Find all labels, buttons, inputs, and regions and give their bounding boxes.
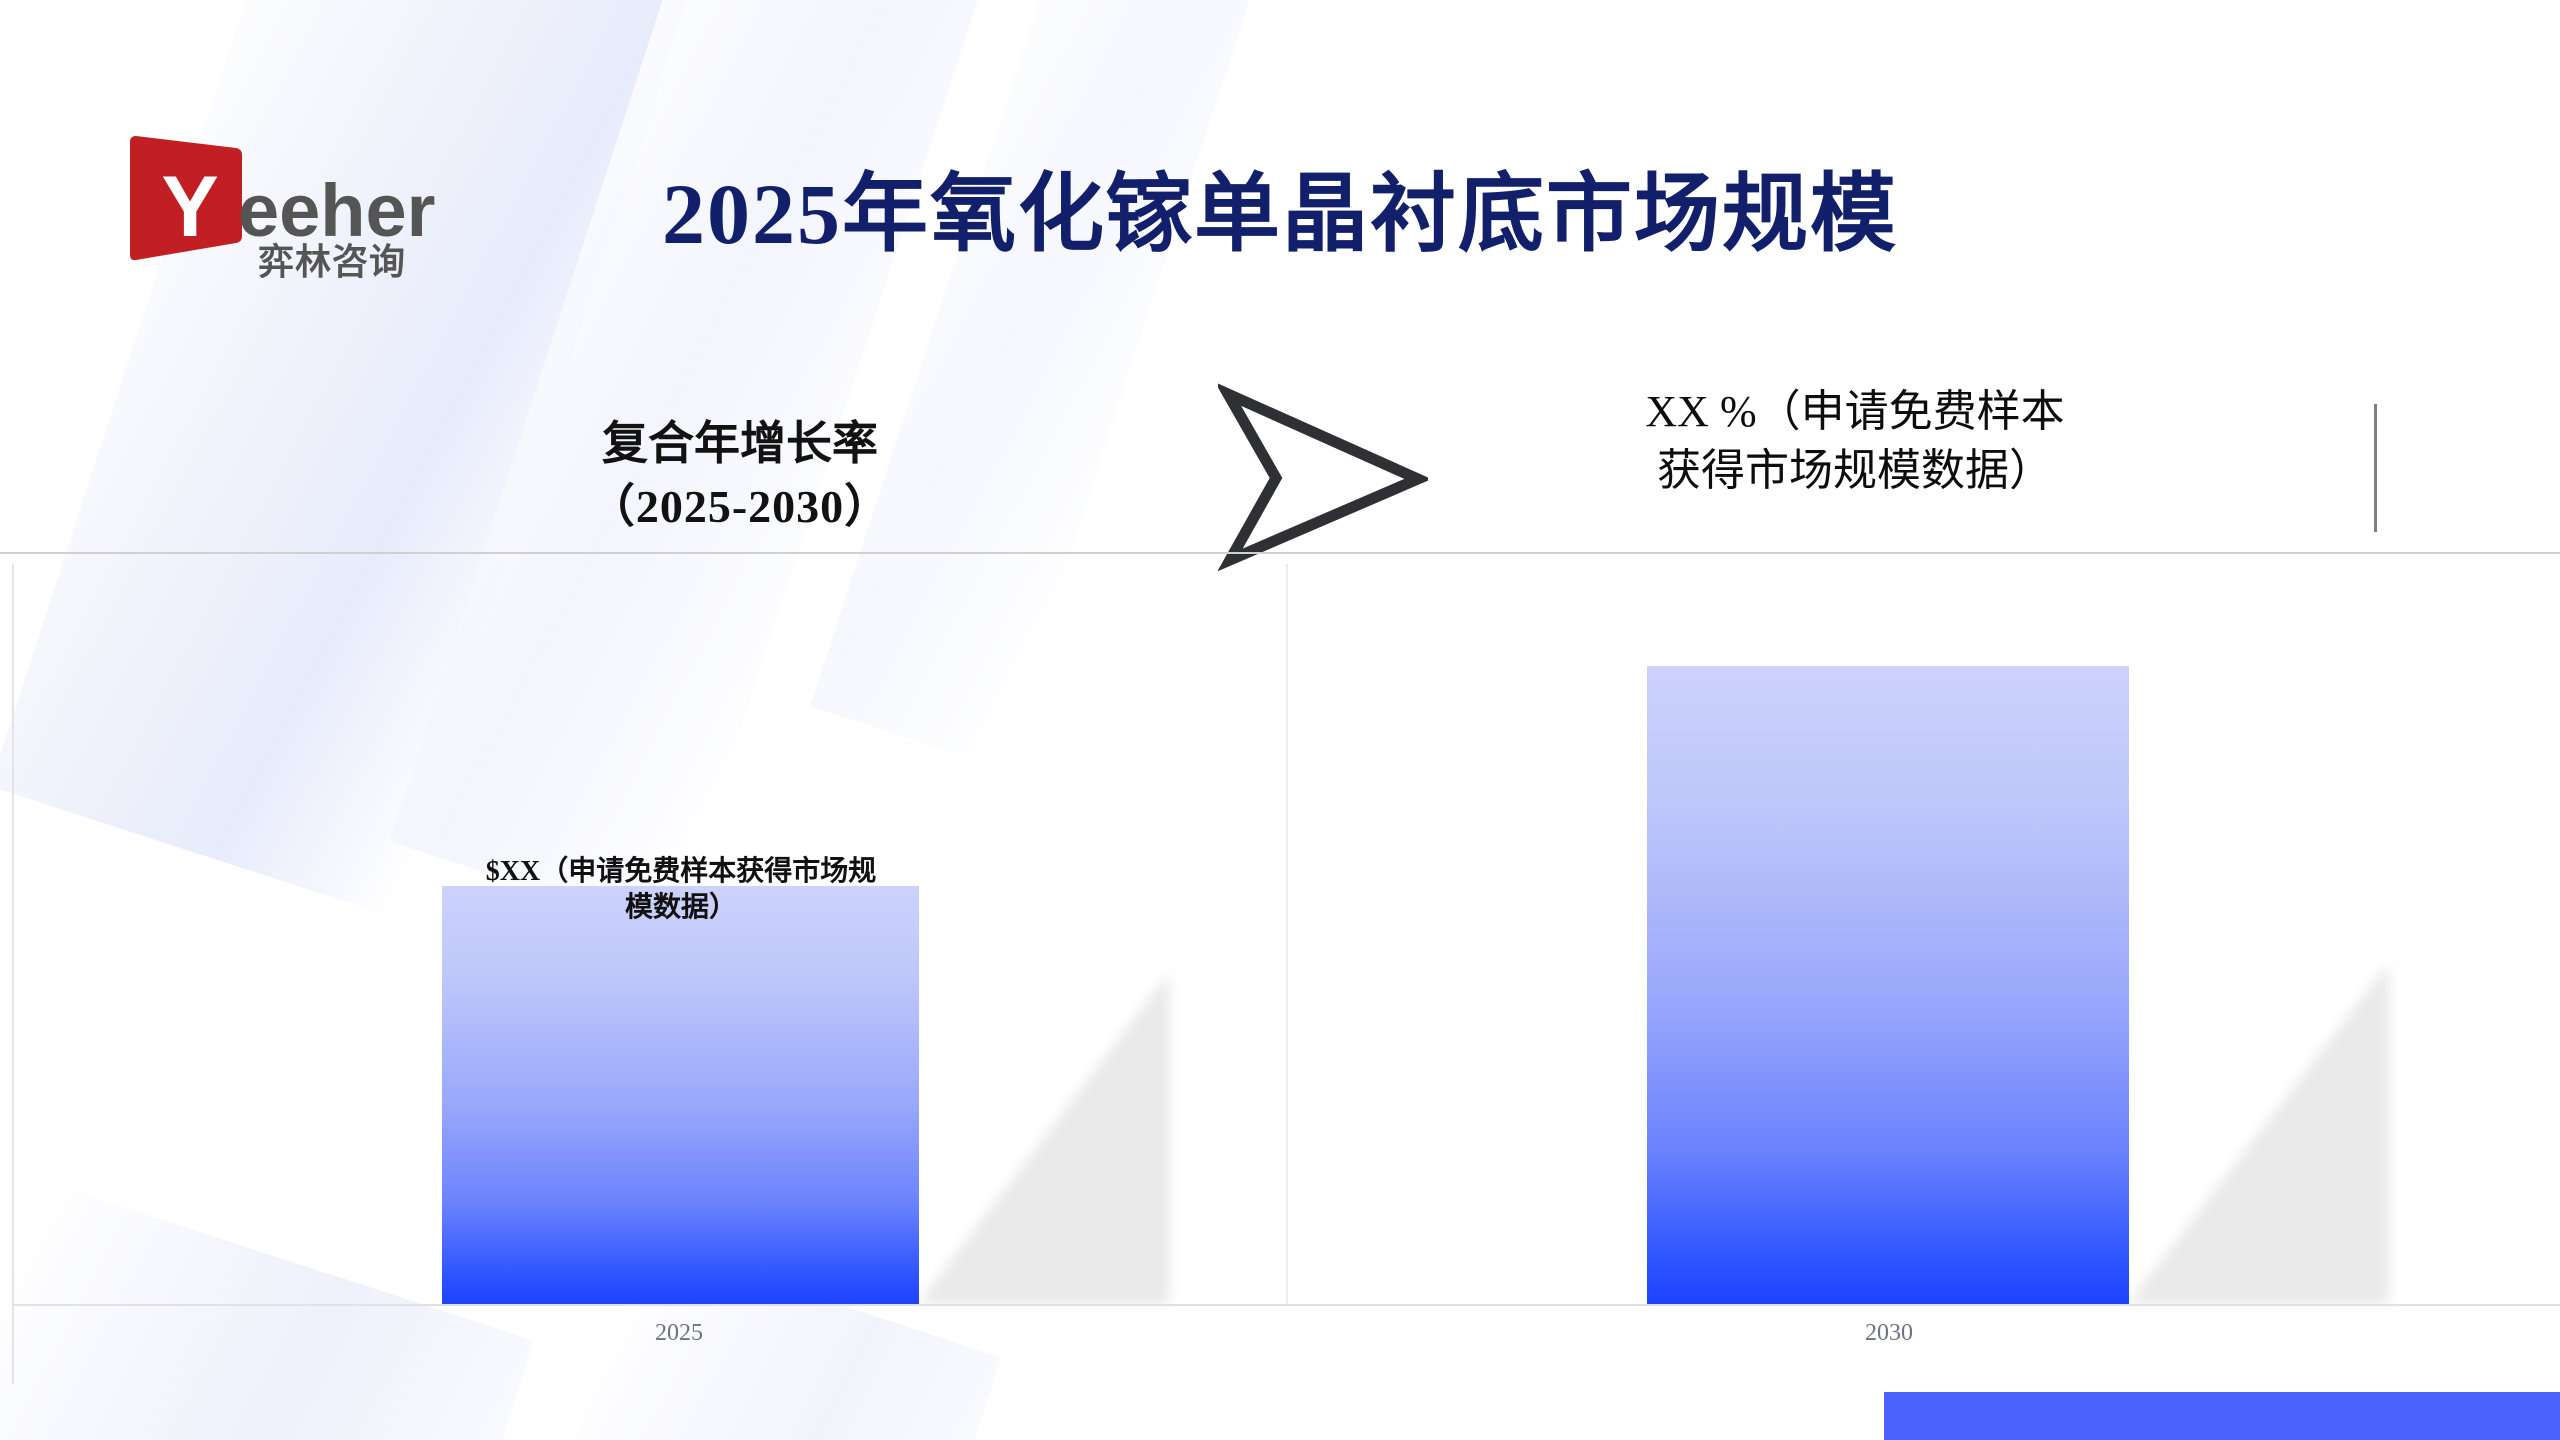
bar-shadow-2025 <box>919 974 1169 1304</box>
bar-value-label-2025-line1: $XX（申请免费样本获得市场规 <box>446 854 916 890</box>
growth-value-callout: XX %（申请免费样本 获得市场规模数据） <box>1620 382 2090 501</box>
cagr-callout: 复合年增长率 （2025-2030） <box>520 412 960 539</box>
arrow-right-outline-icon <box>1218 382 1428 572</box>
chart-bar-2025[interactable] <box>442 886 919 1304</box>
chart-plot-area: $XX（申请免费样本获得市场规 模数据） <box>14 564 2560 1304</box>
growth-value-line1: XX %（申请免费样本 <box>1620 382 2090 441</box>
chart-axis-line <box>14 1304 2560 1306</box>
page-title: 2025年氧化镓单晶衬底市场规模 <box>0 168 2560 261</box>
cagr-label-line1: 复合年增长率 <box>520 412 960 475</box>
chart-bar-2030[interactable] <box>1647 666 2129 1304</box>
bottom-accent-bar <box>1884 1392 2560 1440</box>
arrow-svg <box>1218 382 1428 572</box>
cagr-label-line2: （2025-2030） <box>520 475 960 538</box>
x-axis-label-2025: 2025 <box>559 1320 799 1347</box>
callout-divider-rule <box>2374 404 2377 532</box>
x-axis-label-2030: 2030 <box>1769 1320 2009 1347</box>
bar-shadow-2030 <box>2129 964 2389 1304</box>
bar-value-label-2025-line2: 模数据） <box>446 890 916 926</box>
bar-value-label-2025: $XX（申请免费样本获得市场规 模数据） <box>446 854 916 927</box>
growth-value-line2: 获得市场规模数据） <box>1620 441 2090 500</box>
chart-panel: $XX（申请免费样本获得市场规 模数据） 2025 2030 <box>12 564 2560 1384</box>
chart-container: $XX（申请免费样本获得市场规 模数据） 2025 2030 <box>0 552 2560 1392</box>
arrow-path <box>1228 394 1418 560</box>
